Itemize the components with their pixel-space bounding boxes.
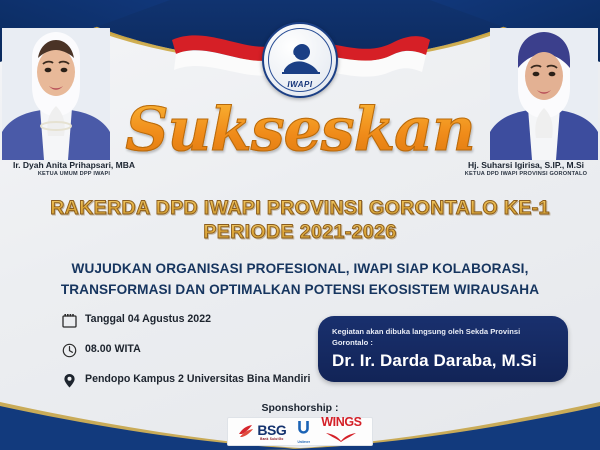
sponsor-logo-bsg: BSG Bank SulutGo <box>238 421 286 442</box>
event-title-line-2: PERIODE 2021-2026 <box>0 220 600 244</box>
event-poster: IWAPI Ir. Dyah Anita Prihapsari, MBA KET… <box>0 0 600 450</box>
clock-icon <box>62 342 79 363</box>
sponsor-logo-unilever: Unilever <box>296 421 311 442</box>
calendar-icon <box>62 312 79 333</box>
wings-wordmark: WINGS <box>321 416 361 429</box>
event-subtitle-line-2: TRANSFORMASI DAN OPTIMALKAN POTENSI EKOS… <box>22 279 578 300</box>
detail-location-text: Pendopo Kampus 2 Universitas Bina Mandir… <box>85 372 310 386</box>
unilever-wordmark: Unilever <box>296 440 311 444</box>
bsg-wordmark: BSG <box>257 423 286 437</box>
iwapi-figure-icon <box>278 43 322 77</box>
detail-time-text: 08.00 WITA <box>85 342 141 356</box>
person-left-role: KETUA UMUM DPP IWAPI <box>0 171 154 177</box>
detail-date-text: Tanggal 04 Agustus 2022 <box>85 312 211 326</box>
bsg-mark-icon <box>238 425 254 439</box>
sponsor-logo-strip: BSG Bank SulutGo Unilever WINGS <box>227 417 372 446</box>
headline-script: Sukseskan <box>0 100 600 160</box>
sponsor-logo-wings: WINGS <box>321 421 361 442</box>
sponsorship-section: Sponshorship : BSG Bank SulutGo Unilever <box>0 402 600 446</box>
bsg-tagline: Bank SulutGo <box>257 437 286 441</box>
wings-bird-icon <box>326 433 356 442</box>
iwapi-logo: IWAPI <box>262 22 338 98</box>
event-title-line-1: RAKERDA DPD IWAPI PROVINSI GORONTALO KE-… <box>0 196 600 220</box>
unilever-u-icon <box>296 420 311 435</box>
sponsorship-label: Sponshorship : <box>0 402 600 414</box>
detail-date: Tanggal 04 Agustus 2022 <box>62 312 312 333</box>
speaker-callout: Kegiatan akan dibuka langsung oleh Sekda… <box>318 316 568 382</box>
speaker-lead-text: Kegiatan akan dibuka langsung oleh Sekda… <box>332 326 554 348</box>
iwapi-logo-label: IWAPI <box>269 80 331 89</box>
event-subtitle-line-1: WUJUDKAN ORGANISASI PROFESIONAL, IWAPI S… <box>22 258 578 279</box>
person-right-role: KETUA DPD IWAPI PROVINSI GORONTALO <box>446 171 600 177</box>
event-title: RAKERDA DPD IWAPI PROVINSI GORONTALO KE-… <box>0 196 600 245</box>
speaker-name: Dr. Ir. Darda Daraba, M.Si <box>332 351 554 371</box>
event-subtitle: WUJUDKAN ORGANISASI PROFESIONAL, IWAPI S… <box>22 258 578 300</box>
detail-time: 08.00 WITA <box>62 342 312 363</box>
